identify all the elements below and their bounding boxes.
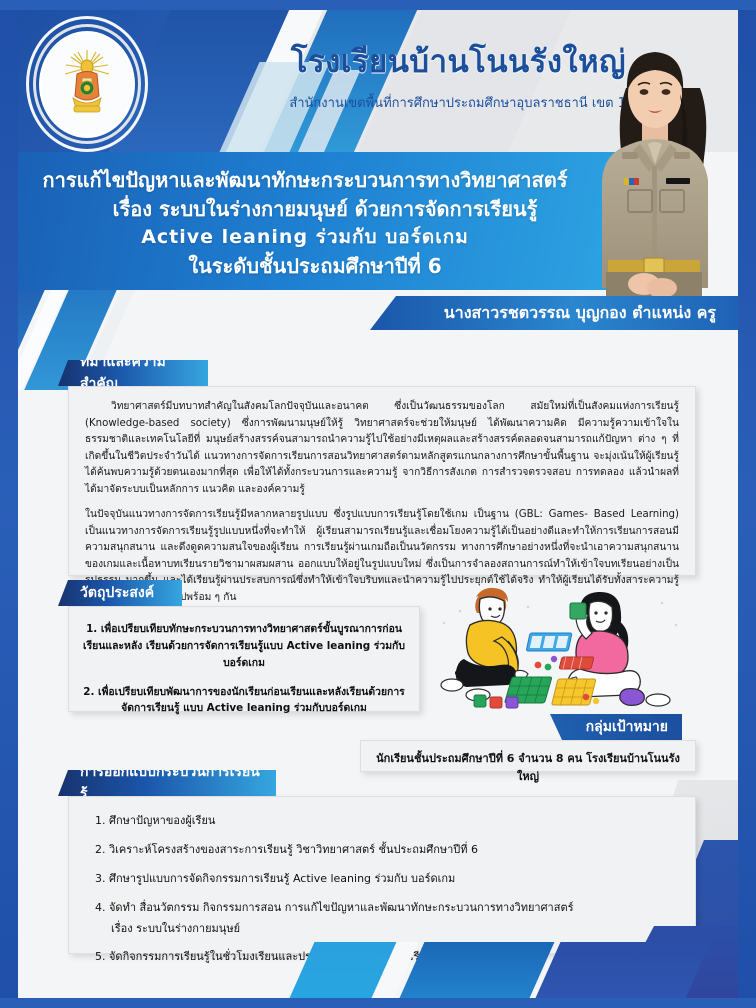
objectives-card: 1. เพื่อเปรียบเทียบทักษะกระบวนการทางวิทย…: [68, 606, 420, 712]
royal-garuda-emblem-icon: [62, 46, 112, 124]
bottom-stripe-2: [400, 942, 555, 998]
background-paragraph-1: วิทยาศาสตร์มีบทบาทสำคัญในสังคมโลกปัจจุบั…: [85, 399, 679, 498]
target-group-card: นักเรียนชั้นประถมศึกษาปีที่ 6 จำนวน 8 คน…: [360, 740, 696, 772]
objective-item-1: 1. เพื่อเปรียบเทียบทักษะกระบวนการทางวิทย…: [83, 621, 405, 672]
author-name-bar: นางสาวรชตวรรณ บุญกอง ตำแหน่ง ครู: [370, 296, 738, 330]
section-header-background: ที่มาและความสำคัญ: [58, 360, 208, 386]
step-main-4: 4. จัดทำ สื่อนวัตกรรม กิจกรรมการสอน การแ…: [95, 901, 574, 914]
research-title-band: การแก้ไขปัญหาและพัฒนาทักษะกระบวนการทางวิ…: [0, 152, 660, 290]
background-card: วิทยาศาสตร์มีบทบาทสำคัญในสังคมโลกปัจจุบั…: [68, 386, 696, 576]
target-group-text: นักเรียนชั้นประถมศึกษาปีที่ 6 จำนวน 8 คน…: [371, 749, 685, 785]
frame-bottom: [0, 998, 756, 1008]
frame-top: [0, 0, 756, 10]
title-line-4: ในระดับชั้นประถมศึกษาปีที่ 6: [0, 252, 610, 281]
teacher-photo: [574, 22, 734, 312]
section-header-objectives: วัตถุประสงค์: [58, 580, 182, 606]
step-main-1: 1. ศึกษาปัญหาของผู้เรียน: [95, 814, 215, 827]
list-item: 2. วิเคราะห์โครงสร้างของสาระการเรียนรู้ …: [91, 840, 673, 861]
title-line-1: การแก้ไขปัญหาและพัฒนาทักษะกระบวนการทางวิ…: [0, 166, 610, 195]
list-item: 1. ศึกษาปัญหาของผู้เรียน: [91, 811, 673, 832]
author-name: นางสาวรชตวรรณ บุญกอง ตำแหน่ง ครู: [444, 301, 716, 326]
list-item: 4. จัดทำ สื่อนวัตกรรม กิจกรรมการสอน การแ…: [91, 898, 673, 940]
step-sub-4: เรื่อง ระบบในร่างกายมนุษย์: [95, 919, 673, 940]
two-students-playing-board-game-illustration: [430, 585, 700, 710]
step-main-2: 2. วิเคราะห์โครงสร้างของสาระการเรียนรู้ …: [95, 843, 478, 856]
section-header-target-group-label: กลุ่มเป้าหมาย: [586, 716, 668, 738]
frame-right: [738, 0, 756, 1008]
process-design-card: 1. ศึกษาปัญหาของผู้เรียน 2. วิเคราะห์โคร…: [68, 796, 696, 954]
bottom-stripe-1: [536, 942, 711, 998]
step-main-3: 3. ศึกษารูปแบบการจัดกิจกรรมการเรียนรู้ A…: [95, 872, 455, 885]
section-header-objectives-label: วัตถุประสงค์: [80, 582, 154, 604]
section-header-target-group: กลุ่มเป้าหมาย: [550, 714, 682, 740]
poster-root: โรงเรียนบ้านโนนรังใหญ่ สำนักงานเขตพื้นที…: [0, 0, 756, 1008]
objective-item-2: 2. เพื่อเปรียบเทียบพัฒนาการของนักเรียนก่…: [83, 684, 405, 718]
list-item: 3. ศึกษารูปแบบการจัดกิจกรรมการเรียนรู้ A…: [91, 869, 673, 890]
frame-left: [0, 0, 18, 1008]
school-logo: [26, 16, 148, 152]
section-header-process-design: การออกแบบกระบวนการเรียนรู้: [58, 770, 276, 796]
title-line-3: Active leaning ร่วมกับ บอร์ดเกม: [0, 224, 610, 252]
title-line-2: เรื่อง ระบบในร่างกายมนุษย์ ด้วยการจัดการ…: [0, 195, 610, 224]
